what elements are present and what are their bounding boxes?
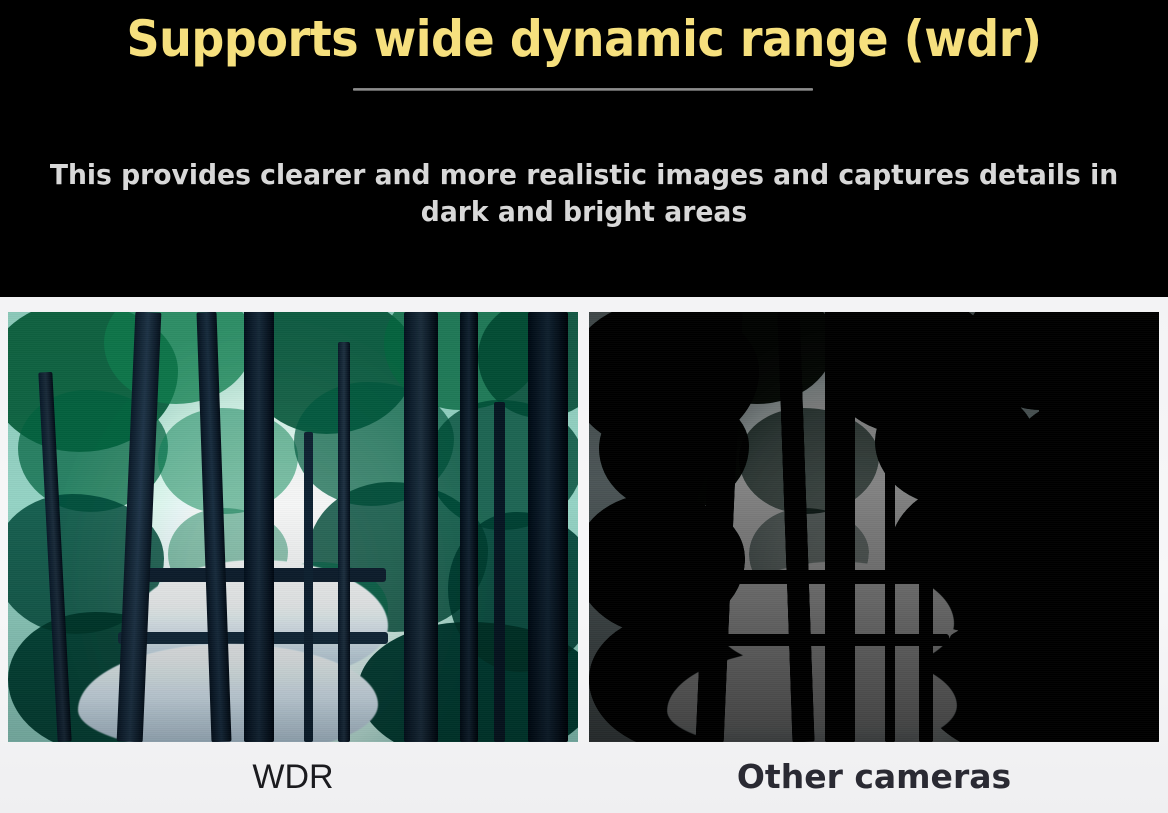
- wdr-photo: [8, 312, 578, 742]
- other-cameras-photo: [589, 312, 1159, 742]
- other-cameras-caption: Other cameras: [589, 746, 1159, 808]
- wdr-shadow-overlay: [8, 312, 578, 742]
- page-title: Supports wide dynamic range (wdr): [47, 6, 1122, 72]
- comparison-panel: WDR Other cameras: [0, 297, 1168, 813]
- standard-shadow-overlay: [589, 312, 1159, 742]
- title-divider: [353, 88, 813, 91]
- wdr-caption: WDR: [8, 746, 578, 808]
- forest-scene-standard: [589, 312, 1159, 742]
- caption-row: WDR Other cameras: [8, 746, 1160, 808]
- forest-scene-wdr: [8, 312, 578, 742]
- photo-comparison-row: [8, 312, 1160, 742]
- hero-section: Supports wide dynamic range (wdr) This p…: [0, 0, 1168, 297]
- page-subtitle: This provides clearer and more realistic…: [43, 156, 1126, 230]
